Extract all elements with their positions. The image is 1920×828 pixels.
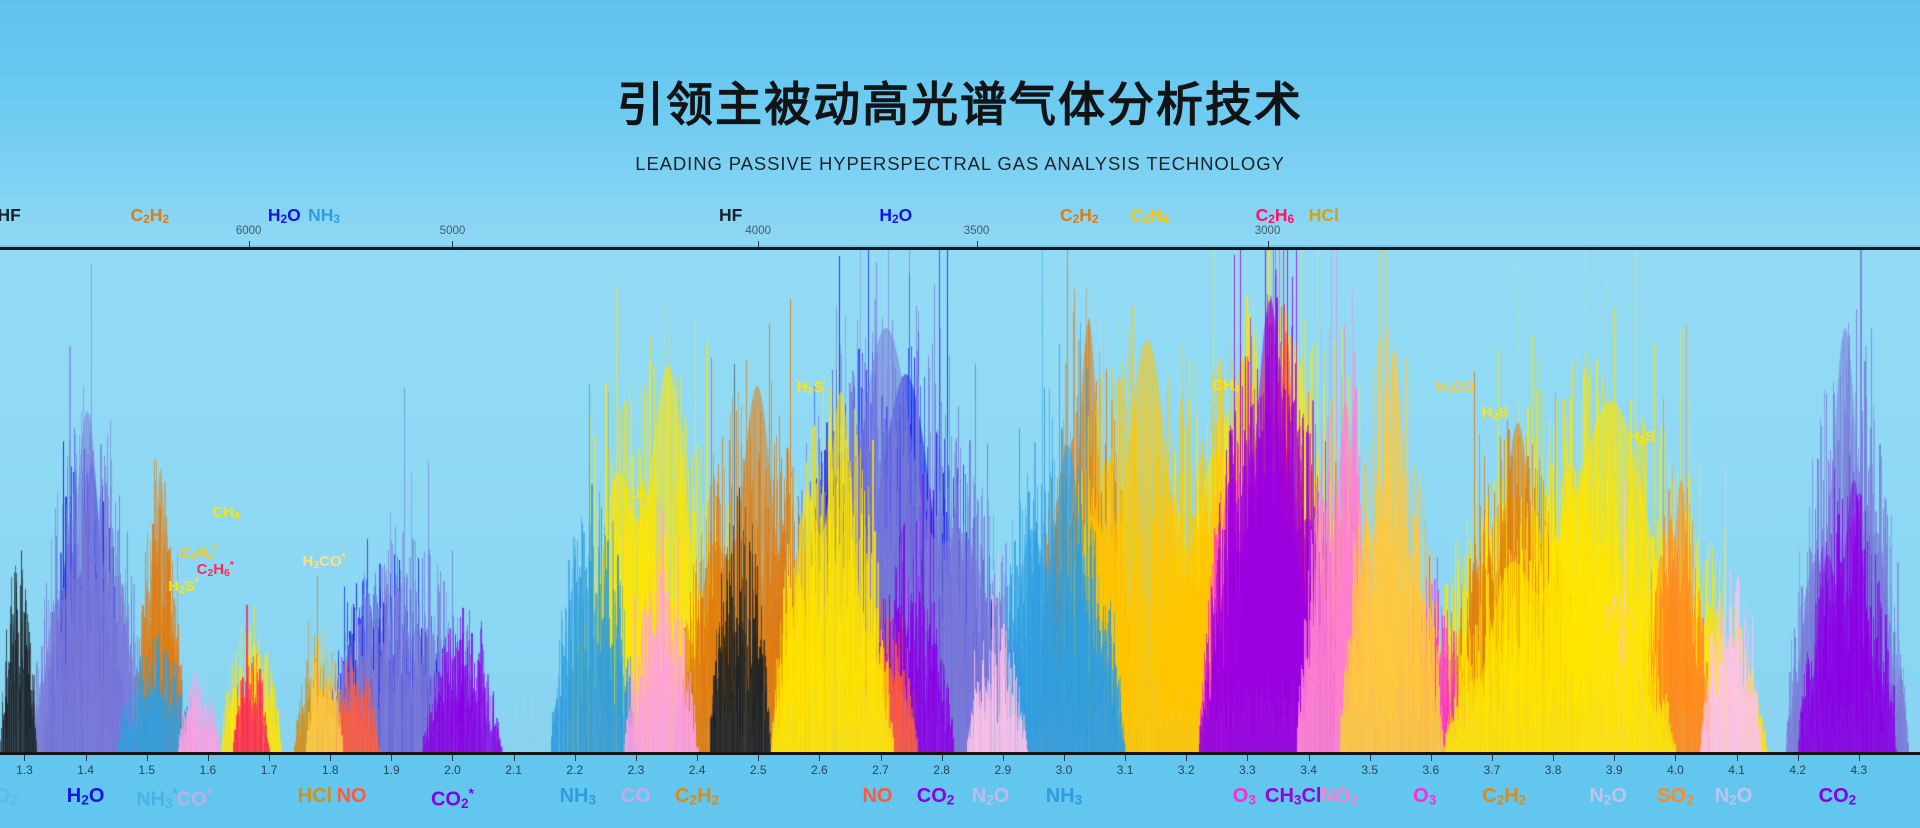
bottom-tick-label: 3.2	[1178, 763, 1195, 777]
bottom-tick-label: 4.2	[1789, 763, 1806, 777]
bottom-tick-mark	[1186, 755, 1187, 761]
gas-label-top: HCl	[1309, 205, 1339, 226]
page-subtitle-en: LEADING PASSIVE HYPERSPECTRAL GAS ANALYS…	[0, 153, 1920, 175]
bottom-tick-mark	[330, 755, 331, 761]
bottom-tick-mark	[269, 755, 270, 761]
bottom-tick-label: 1.6	[200, 763, 217, 777]
bottom-tick-mark	[575, 755, 576, 761]
spectra-canvas	[0, 250, 1920, 753]
bottom-tick-mark	[758, 755, 759, 761]
bottom-tick-mark	[1553, 755, 1554, 761]
top-tick-label: 5000	[440, 225, 466, 237]
bottom-tick-mark	[514, 755, 515, 761]
footer-band: 1.31.41.51.61.71.81.92.02.12.22.32.42.52…	[0, 755, 1920, 828]
gas-label-bottom: CO2	[917, 785, 955, 808]
gas-label-inplot: CH4	[213, 504, 240, 522]
bottom-tick-mark	[1798, 755, 1799, 761]
top-tick-label: 3000	[1255, 225, 1281, 237]
bottom-tick-label: 1.3	[16, 763, 33, 777]
gas-label-inplot: CH4	[625, 486, 652, 504]
page-title-cn: 引领主被动高光谱气体分析技术	[0, 66, 1920, 135]
bottom-tick-label: 2.2	[566, 763, 583, 777]
bottom-tick-label: 3.4	[1300, 763, 1317, 777]
bottom-tick-mark	[1125, 755, 1126, 761]
gas-label-bottom: NH3	[560, 785, 596, 808]
bottom-tick-label: 3.6	[1422, 763, 1439, 777]
bottom-tick-label: 3.7	[1484, 763, 1501, 777]
gas-label-bottom: C2H2	[675, 785, 719, 808]
bottom-tick-label: 3.1	[1117, 763, 1134, 777]
bottom-tick-label: 2.9	[994, 763, 1011, 777]
bottom-tick-mark	[452, 755, 453, 761]
bottom-tick-label: 2.5	[750, 763, 767, 777]
gas-label-bottom: SO2	[1657, 785, 1693, 808]
bottom-tick-label: 2.7	[872, 763, 889, 777]
gas-label-bottom: O3	[1413, 785, 1436, 808]
gas-label-top: C2H2	[1060, 205, 1099, 226]
gas-label-top: NH3	[308, 205, 340, 226]
gas-label-top: C2H4	[1130, 205, 1169, 226]
bottom-tick-label: 3.8	[1545, 763, 1562, 777]
top-tick-label: 3500	[964, 225, 990, 237]
bottom-tick-mark	[1492, 755, 1493, 761]
gas-label-bottom: HCl	[298, 785, 332, 808]
bottom-tick-mark	[1614, 755, 1615, 761]
top-tick-label: 6000	[236, 225, 262, 237]
bottom-tick-label: 2.6	[811, 763, 828, 777]
bottom-tick-mark	[147, 755, 148, 761]
header-band: 引领主被动高光谱气体分析技术 LEADING PASSIVE HYPERSPEC…	[0, 0, 1920, 245]
gas-label-top: C2H6	[1256, 205, 1295, 226]
gas-label-bottom: C2H2	[1482, 785, 1526, 808]
gas-label-bottom: CO2	[0, 785, 18, 808]
gas-label-bottom: NO	[337, 785, 367, 808]
gas-label-inplot: H2CO	[1436, 379, 1475, 397]
bottom-tick-mark	[1064, 755, 1065, 761]
bottom-tick-label: 2.8	[933, 763, 950, 777]
bottom-tick-label: 3.3	[1239, 763, 1256, 777]
poster-root: 引领主被动高光谱气体分析技术 LEADING PASSIVE HYPERSPEC…	[0, 0, 1920, 828]
gas-label-top: HF	[0, 205, 21, 226]
bottom-tick-label: 1.7	[261, 763, 278, 777]
bottom-tick-label: 4.0	[1667, 763, 1684, 777]
gas-label-inplot: H2CO*	[303, 551, 346, 571]
bottom-tick-mark	[1859, 755, 1860, 761]
gas-label-top: H2O	[268, 205, 301, 226]
bottom-tick-label: 1.8	[322, 763, 339, 777]
bottom-tick-label: 3.0	[1056, 763, 1073, 777]
bottom-tick-mark	[819, 755, 820, 761]
gas-label-inplot: C2H6*	[197, 559, 234, 579]
gas-label-inplot: H2S*	[168, 576, 199, 596]
bottom-tick-label: 2.4	[689, 763, 706, 777]
bottom-tick-label: 1.9	[383, 763, 400, 777]
bottom-tick-mark	[1247, 755, 1248, 761]
gas-label-bottom: NH3	[1046, 785, 1082, 808]
bottom-tick-label: 4.3	[1851, 763, 1868, 777]
gas-label-bottom: CO2	[1819, 785, 1857, 808]
gas-label-top: HF	[719, 205, 742, 226]
bottom-tick-mark	[208, 755, 209, 761]
bottom-tick-label: 2.0	[444, 763, 461, 777]
bottom-tick-mark	[1003, 755, 1004, 761]
bottom-tick-label: 3.5	[1361, 763, 1378, 777]
gas-label-bottom: N2O	[1589, 785, 1627, 808]
gas-label-inplot: H2S	[1629, 428, 1656, 446]
gas-label-bottom: CO*	[177, 785, 212, 812]
bottom-tick-mark	[697, 755, 698, 761]
bottom-tick-label: 4.1	[1728, 763, 1745, 777]
gas-label-bottom: CO	[621, 785, 651, 808]
gas-label-inplot: H2S	[797, 379, 824, 397]
bottom-tick-mark	[24, 755, 25, 761]
bottom-tick-mark	[1431, 755, 1432, 761]
bottom-tick-label: 2.3	[628, 763, 645, 777]
top-tick-label: 4000	[745, 225, 771, 237]
bottom-tick-label: 1.5	[138, 763, 155, 777]
gas-label-bottom: CH3Cl	[1265, 785, 1321, 808]
gas-label-top: H2O	[879, 205, 912, 226]
spectra-plot: CH4C2H4*C2H6*H2S*H2CO*CH4H2SCH4H2COH2SH2…	[0, 250, 1920, 753]
bottom-tick-mark	[881, 755, 882, 761]
gas-label-bottom: NO2	[1320, 785, 1358, 808]
gas-label-bottom: O3	[1233, 785, 1256, 808]
gas-label-bottom: H2O	[67, 785, 105, 808]
bottom-tick-mark	[1309, 755, 1310, 761]
bottom-tick-mark	[942, 755, 943, 761]
bottom-tick-mark	[391, 755, 392, 761]
gas-label-bottom: NH3*	[136, 785, 178, 812]
gas-label-inplot: H2S	[1482, 404, 1509, 422]
bottom-tick-label: 3.9	[1606, 763, 1623, 777]
bottom-tick-label: 2.1	[505, 763, 522, 777]
bottom-tick-mark	[1370, 755, 1371, 761]
gas-label-bottom: NO	[862, 785, 892, 808]
gas-label-bottom: N2O	[972, 785, 1010, 808]
gas-label-top: C2H2	[131, 205, 170, 226]
bottom-tick-mark	[1675, 755, 1676, 761]
gas-label-inplot: CH4	[1212, 377, 1239, 395]
bottom-tick-mark	[86, 755, 87, 761]
gas-label-bottom: N2O	[1715, 785, 1753, 808]
bottom-tick-mark	[636, 755, 637, 761]
bottom-tick-mark	[1737, 755, 1738, 761]
bottom-tick-label: 1.4	[77, 763, 94, 777]
gas-label-bottom: CO2*	[431, 785, 474, 812]
